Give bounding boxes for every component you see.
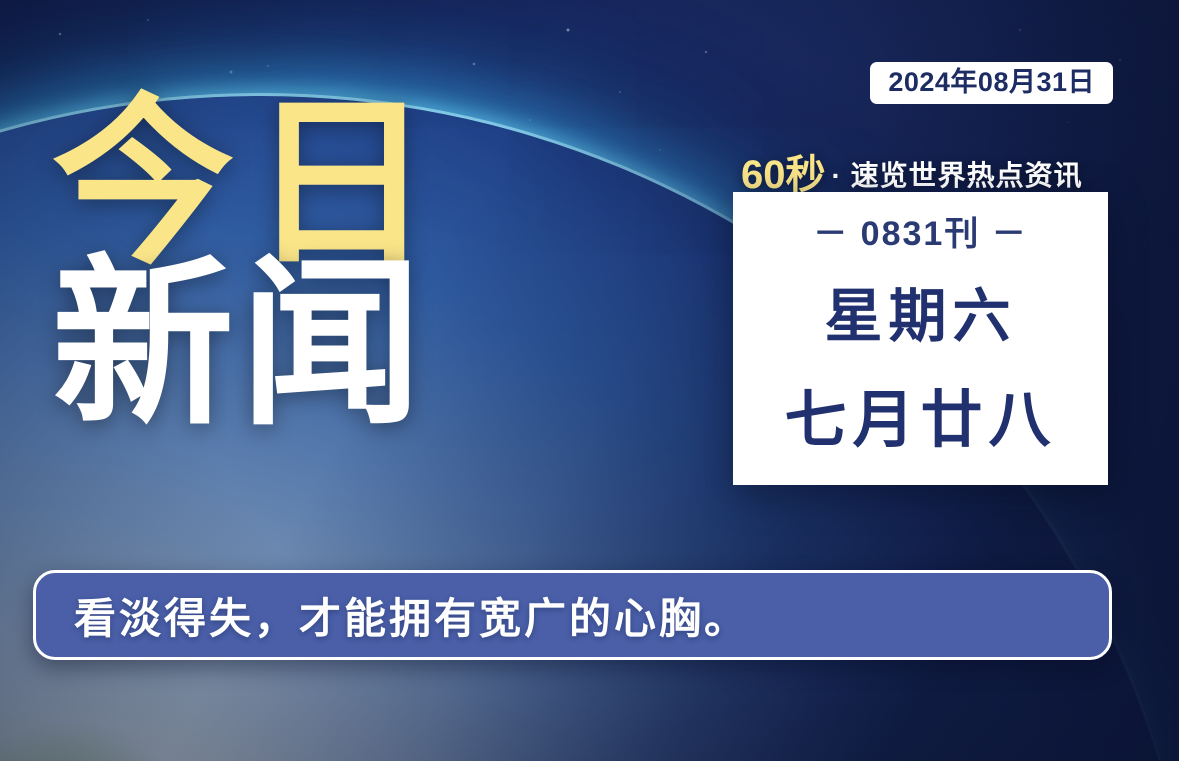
issue-card: － 0831刊 － 星期六 七月廿八 [733,192,1108,485]
news-poster: sabich 2024年08月31日 今日 新闻 60秒· 速览世界热点资讯 [0,0,1179,761]
weekday-label: 星期六 [824,269,1016,353]
tagline-rest: · 速览世界热点资讯 [832,160,1083,191]
issue-number: － 0831刊 － [813,206,1028,255]
quote-text: 看淡得失，才能拥有宽广的心胸。 [74,585,749,646]
lunar-date-label: 七月廿八 [784,369,1056,459]
brand-title-line2: 新闻 [52,257,448,432]
quote-bar: 看淡得失，才能拥有宽广的心胸。 [33,570,1112,660]
date-badge: 2024年08月31日 [870,62,1113,104]
tagline-highlight: 60秒 [741,153,826,197]
brand-title: 今日 新闻 [52,96,448,431]
